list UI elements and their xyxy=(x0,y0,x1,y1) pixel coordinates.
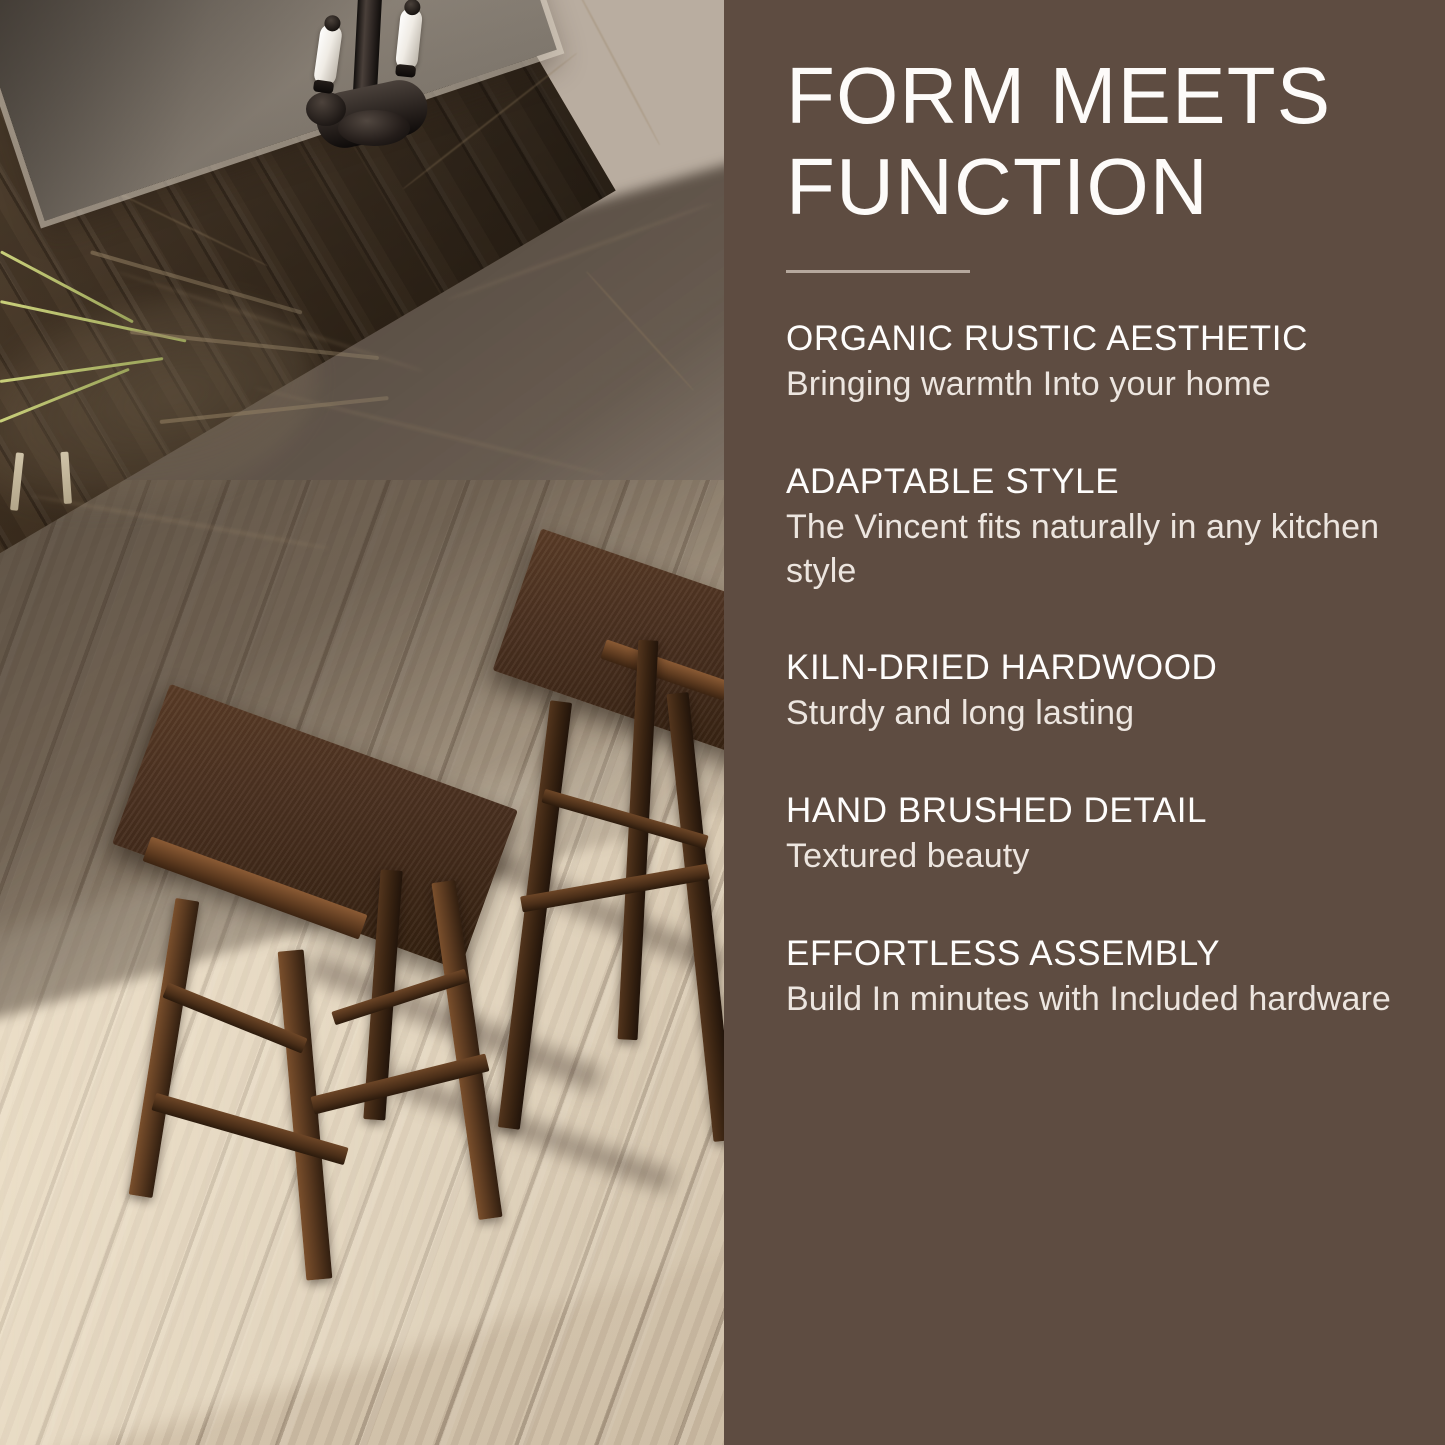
marble-vein xyxy=(570,0,661,145)
feature-item-effortless-assembly: EFFORTLESS ASSEMBLY Build In minutes wit… xyxy=(786,933,1406,1022)
copy-panel: FORM MEETS FUNCTION ORGANIC RUSTIC AESTH… xyxy=(724,0,1445,1445)
headline-line-1: FORM MEETS xyxy=(786,50,1386,141)
feature-subtitle: Sturdy and long lasting xyxy=(786,692,1406,736)
feature-title: ORGANIC RUSTIC AESTHETIC xyxy=(786,318,1406,359)
feature-title: HAND BRUSHED DETAIL xyxy=(786,790,1406,831)
product-photo xyxy=(0,0,724,1445)
feature-item-organic-rustic-aesthetic: ORGANIC RUSTIC AESTHETIC Bringing warmth… xyxy=(786,318,1406,407)
feature-item-kiln-dried-hardwood: KILN-DRIED HARDWOOD Sturdy and long last… xyxy=(786,647,1406,736)
feature-title: KILN-DRIED HARDWOOD xyxy=(786,647,1406,688)
feature-item-hand-brushed-detail: HAND BRUSHED DETAIL Textured beauty xyxy=(786,790,1406,879)
feature-subtitle: Textured beauty xyxy=(786,835,1406,879)
headline-line-2: FUNCTION xyxy=(786,141,1386,232)
feature-title: EFFORTLESS ASSEMBLY xyxy=(786,933,1406,974)
title-divider xyxy=(786,270,970,273)
feature-subtitle: Build In minutes with Included hardware xyxy=(786,978,1406,1022)
page-title: FORM MEETS FUNCTION xyxy=(786,50,1386,232)
feature-title: ADAPTABLE STYLE xyxy=(786,461,1406,502)
product-feature-graphic: FORM MEETS FUNCTION ORGANIC RUSTIC AESTH… xyxy=(0,0,1445,1445)
feature-subtitle: Bringing warmth Into your home xyxy=(786,363,1406,407)
faucet-base xyxy=(338,110,410,146)
feature-item-adaptable-style: ADAPTABLE STYLE The Vincent fits natural… xyxy=(786,461,1406,593)
feature-subtitle: The Vincent fits naturally in any kitche… xyxy=(786,506,1406,593)
feature-list: ORGANIC RUSTIC AESTHETIC Bringing warmth… xyxy=(786,318,1406,1022)
